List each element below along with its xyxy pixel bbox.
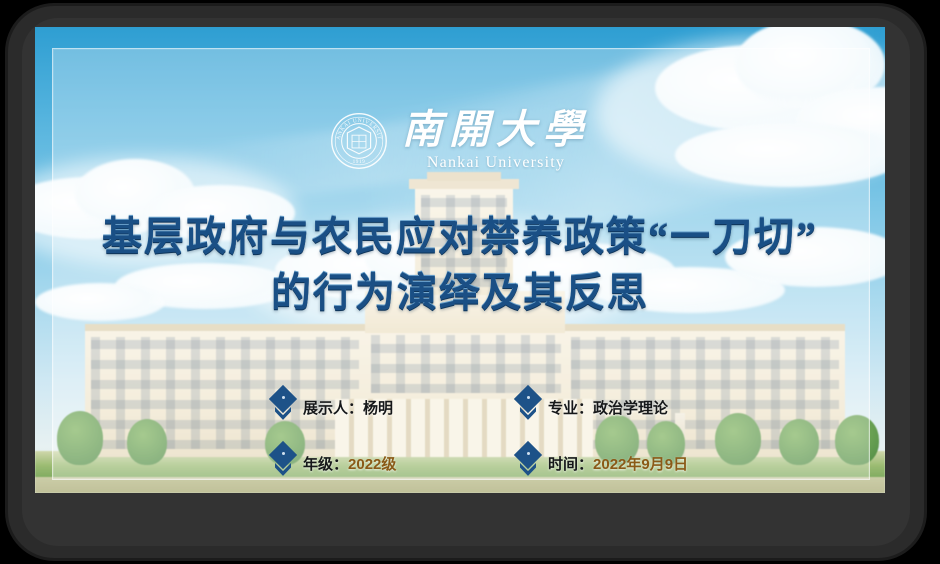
svg-text:NANKAI UNIVERSITY: NANKAI UNIVERSITY [330, 112, 382, 140]
info-date-label: 时间： [548, 456, 593, 473]
title-line-1: 基层政府与农民应对禁养政策“一刀切” [35, 209, 885, 265]
svg-text:1919: 1919 [353, 159, 366, 165]
info-major-value: 政治学理论 [593, 400, 668, 417]
info-date-text: 时间：2022年9月9日 [548, 453, 688, 474]
presentation-slide[interactable]: NANKAI UNIVERSITY 1919 南開大學 Nankai Unive… [35, 27, 885, 493]
info-presenter-text: 展示人：杨明 [303, 397, 393, 418]
diamond-chevron-icon [517, 443, 539, 483]
info-grade-label: 年级： [303, 456, 348, 473]
slide-title: 基层政府与农民应对禁养政策“一刀切” 的行为演绎及其反思 [35, 209, 885, 321]
logo-name-cn: 南開大學 [402, 109, 590, 151]
info-presenter-value: 杨明 [363, 400, 393, 417]
logo-name-en: Nankai University [427, 153, 565, 173]
diamond-chevron-icon [272, 387, 294, 427]
info-item-presenter: 展示人：杨明 [272, 387, 517, 427]
info-grade-value: 2022级 [348, 456, 396, 473]
nankai-seal-icon: NANKAI UNIVERSITY 1919 [330, 112, 388, 170]
device-frame: NANKAI UNIVERSITY 1919 南開大學 Nankai Unive… [0, 0, 940, 564]
info-major-label: 专业： [548, 400, 593, 417]
info-date-value: 2022年9月9日 [593, 456, 688, 473]
diamond-chevron-icon [272, 443, 294, 483]
info-presenter-label: 展示人： [303, 400, 363, 417]
info-item-date: 时间：2022年9月9日 [517, 443, 752, 483]
info-major-text: 专业：政治学理论 [548, 397, 668, 418]
info-grade-text: 年级：2022级 [303, 453, 396, 474]
info-item-grade: 年级：2022级 [272, 443, 517, 483]
info-item-major: 专业：政治学理论 [517, 387, 752, 427]
presenter-info-grid: 展示人：杨明 专业：政治学理论 年级：2022级 时间：2022年9月9日 [272, 387, 752, 483]
diamond-chevron-icon [517, 387, 539, 427]
university-logo: NANKAI UNIVERSITY 1919 南開大學 Nankai Unive… [35, 109, 885, 173]
title-line-2: 的行为演绎及其反思 [35, 265, 885, 321]
